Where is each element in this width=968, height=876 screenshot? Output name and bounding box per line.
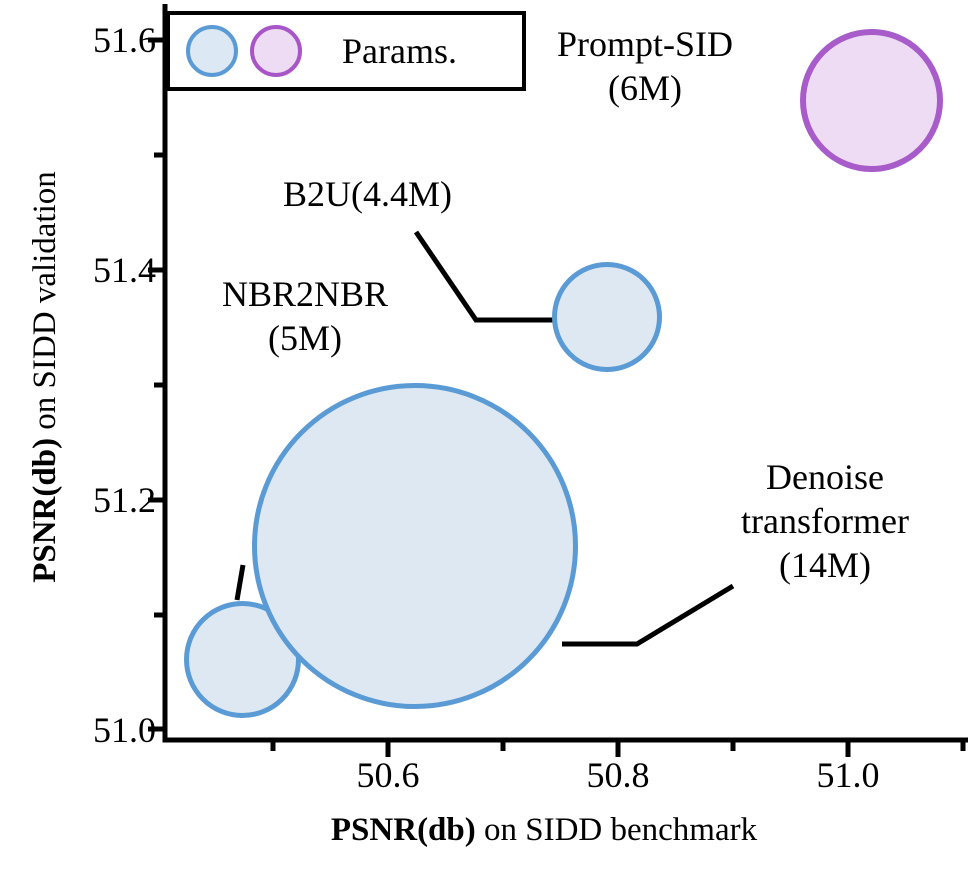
legend-label: Params. — [342, 32, 457, 70]
leader-line-nbr2nbr — [237, 565, 243, 600]
annotation-prompt-sid-line1: Prompt-SID — [520, 22, 770, 66]
x-axis-title-bold: PSNR(db) — [331, 812, 476, 848]
annotation-b2u: B2U(4.4M) — [283, 172, 452, 216]
x-tick-label-50-8: 50.8 — [548, 757, 688, 793]
annotation-denoise-line2: transformer — [690, 499, 960, 543]
y-tick-label-51-2: 51.2 — [36, 482, 156, 518]
x-tick-label-51-0: 51.0 — [778, 757, 918, 793]
x-axis-title: PSNR(db) on SIDD benchmark — [120, 812, 968, 849]
annotation-nbr2nbr: NBR2NBR (5M) — [170, 272, 440, 360]
annotation-denoise-transformer: Denoise transformer (14M) — [690, 455, 960, 587]
bubble-chart-figure: PSNR(db) on SIDD validation PSNR(db) on … — [0, 0, 968, 876]
y-tick-label-51-0: 51.0 — [36, 712, 156, 748]
annotation-denoise-line1: Denoise — [690, 455, 960, 499]
y-axis-title-rest: on SIDD validation — [27, 171, 63, 438]
y-axis-minor-ticks — [154, 155, 165, 615]
y-axis-major-ticks — [148, 40, 165, 729]
x-tick-label-50-6: 50.6 — [318, 757, 458, 793]
annotation-nbr2nbr-line2: (5M) — [170, 316, 440, 360]
bubble-denoise-transformer[interactable] — [252, 383, 578, 709]
x-axis-minor-ticks — [273, 740, 963, 751]
annotation-prompt-sid: Prompt-SID (6M) — [520, 22, 770, 110]
y-tick-label-51-6: 51.6 — [36, 22, 156, 58]
legend-swatch-purple-circle-icon — [250, 25, 302, 77]
annotation-prompt-sid-line2: (6M) — [520, 66, 770, 110]
legend-swatch-blue-circle-icon — [186, 25, 238, 77]
annotation-denoise-line3: (14M) — [690, 543, 960, 587]
bubble-prompt-sid[interactable] — [800, 29, 943, 172]
y-tick-label-51-4: 51.4 — [36, 252, 156, 288]
y-axis-title: PSNR(db) on SIDD validation — [23, 27, 67, 727]
annotation-nbr2nbr-line1: NBR2NBR — [170, 272, 440, 316]
legend: Params. — [166, 11, 526, 91]
leader-line-denoise — [562, 586, 733, 644]
bubble-b2u[interactable] — [552, 262, 662, 372]
x-axis-title-rest: on SIDD benchmark — [476, 812, 757, 848]
